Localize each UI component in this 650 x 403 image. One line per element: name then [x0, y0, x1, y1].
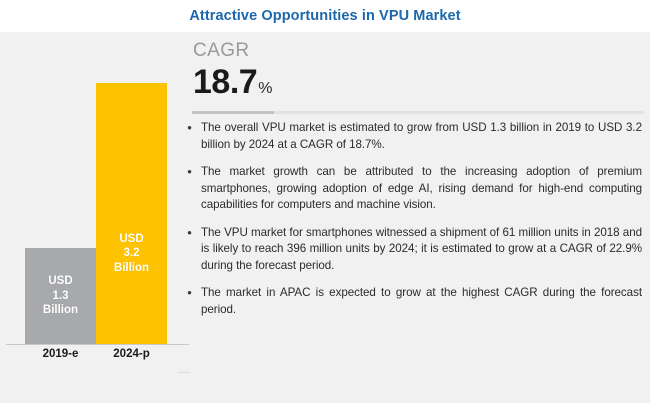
page-title: Attractive Opportunities in VPU Market — [189, 8, 460, 24]
list-item: • The overall VPU market is estimated to… — [178, 120, 650, 153]
section-divider — [192, 111, 644, 114]
x-axis-tick-2024-p: 2024-p — [96, 348, 167, 360]
bullet-text: The market growth can be attributed to t… — [201, 164, 642, 214]
bar-2024-p-label-line1: USD — [114, 232, 149, 247]
cagr-value-row: 18.7 % — [193, 64, 272, 100]
cagr-block: CAGR 18.7 % — [193, 40, 272, 100]
x-axis-labels: 2019-e 2024-p — [0, 348, 178, 368]
bar-2019-e-label-line3: Billion — [43, 303, 78, 318]
cagr-label: CAGR — [193, 40, 272, 62]
header-bar: Attractive Opportunities in VPU Market — [0, 0, 650, 32]
bullet-marker-icon: • — [178, 164, 201, 214]
x-axis-line — [6, 344, 189, 345]
bar-2024-p-label: USD 3.2 Billion — [114, 232, 149, 276]
bullet-marker-icon: • — [178, 225, 201, 275]
list-item: • The VPU market for smartphones witness… — [178, 225, 650, 275]
bullet-text: The overall VPU market is estimated to g… — [201, 120, 642, 153]
bar-chart: USD 1.3 Billion USD 3.2 Billion 2019-e — [0, 32, 178, 403]
list-item: • The market in APAC is expected to grow… — [178, 285, 650, 318]
bullet-text: The VPU market for smartphones witnessed… — [201, 225, 642, 275]
footer-rule — [178, 372, 190, 373]
cagr-percent-symbol: % — [258, 80, 272, 98]
content-area: USD 1.3 Billion USD 3.2 Billion 2019-e — [0, 32, 650, 403]
bar-2019-e-label: USD 1.3 Billion — [43, 274, 78, 318]
bar-2019-e-label-line2: 1.3 — [43, 289, 78, 304]
insights-panel: CAGR 18.7 % • The overall VPU market is … — [178, 32, 650, 403]
bar-2024-p[interactable]: USD 3.2 Billion — [96, 83, 167, 344]
cagr-value: 18.7 — [193, 64, 257, 100]
bullet-marker-icon: • — [178, 120, 201, 153]
x-axis-tick-2019-e: 2019-e — [25, 348, 96, 360]
section-divider-accent — [192, 111, 274, 114]
bar-2019-e[interactable]: USD 1.3 Billion — [25, 248, 96, 344]
bullet-text: The market in APAC is expected to grow a… — [201, 285, 642, 318]
bar-2024-p-label-line2: 3.2 — [114, 246, 149, 261]
slide-root: Attractive Opportunities in VPU Market U… — [0, 0, 650, 403]
bar-2019-e-label-line1: USD — [43, 274, 78, 289]
list-item: • The market growth can be attributed to… — [178, 164, 650, 214]
bullet-list: • The overall VPU market is estimated to… — [178, 120, 650, 329]
chart-plot-area: USD 1.3 Billion USD 3.2 Billion — [0, 32, 178, 344]
bar-2024-p-label-line3: Billion — [114, 261, 149, 276]
bullet-marker-icon: • — [178, 285, 201, 318]
